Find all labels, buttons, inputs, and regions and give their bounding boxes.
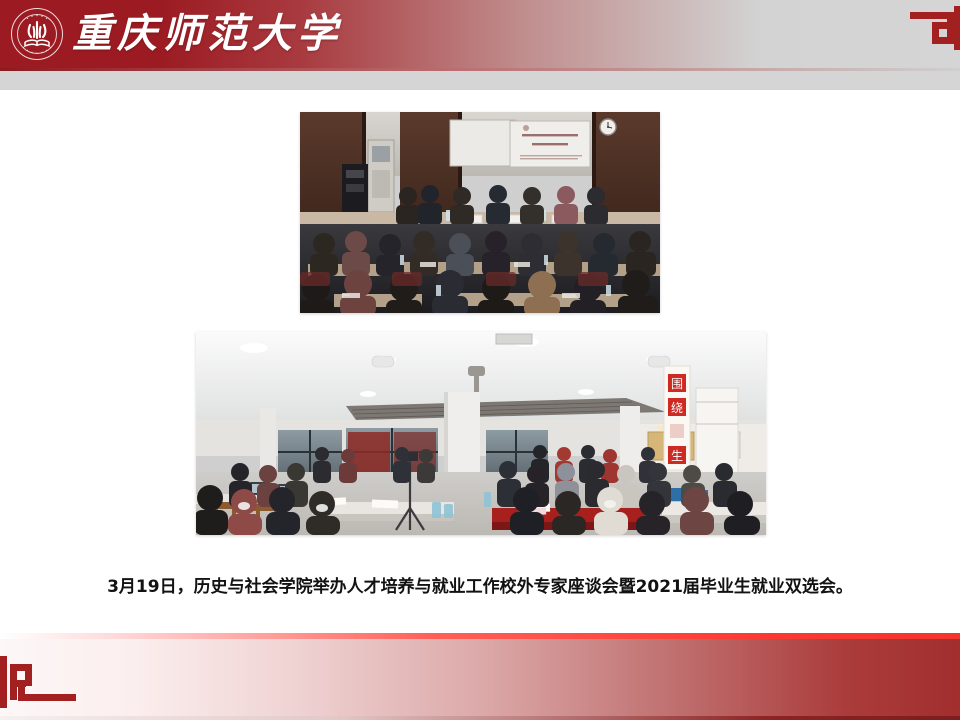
seal-emblem-icon	[8, 5, 66, 63]
meander-ornament-top-right-icon	[892, 6, 960, 50]
seminar-room-photo-image	[300, 112, 660, 313]
svg-text:绕: 绕	[671, 401, 683, 415]
footer-baseline	[0, 716, 960, 720]
slide-caption: 3月19日，历史与社会学院举办人才培养与就业工作校外专家座谈会暨2021届毕业生…	[0, 572, 960, 597]
job-fair-photo-image: 围绕生	[196, 332, 766, 535]
svg-text:生: 生	[671, 449, 683, 463]
seminar-room-photo	[300, 112, 660, 313]
footer-gradient-band	[0, 639, 960, 716]
presentation-slide: 重庆师范大学	[0, 0, 960, 720]
university-name: 重庆师范大学	[72, 6, 342, 62]
header-gray-strip	[0, 71, 960, 90]
university-seal-icon	[8, 5, 66, 63]
svg-text:围: 围	[671, 377, 683, 391]
slide-header: 重庆师范大学	[0, 0, 960, 68]
job-fair-photo: 围绕生	[196, 332, 766, 535]
meander-ornament-bottom-left-icon	[0, 656, 80, 708]
job-fair-banner: 围绕生	[664, 366, 690, 470]
